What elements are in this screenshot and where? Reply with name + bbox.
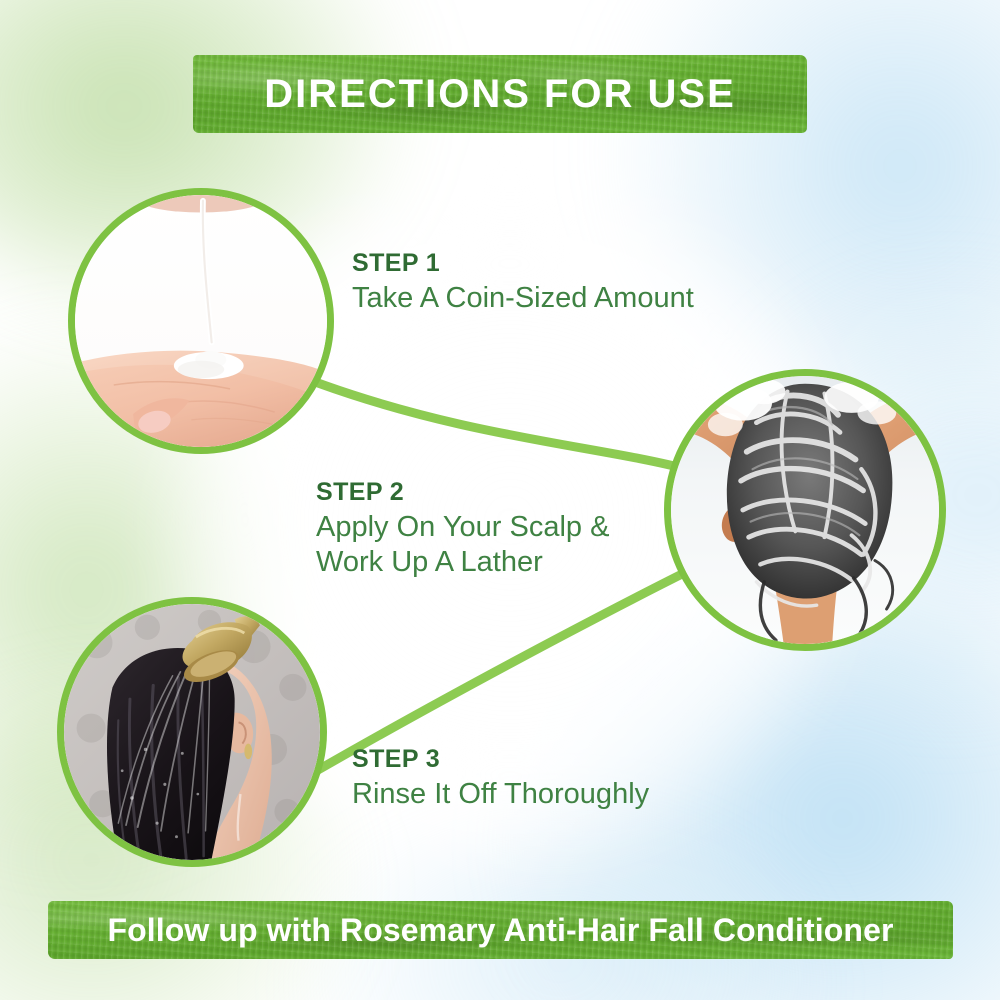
step-3-label: STEP 3 [352,745,649,774]
header-banner: DIRECTIONS FOR USE [193,55,807,133]
step-3-description: Rinse It Off Thoroughly [352,777,649,812]
step-2-image-circle [664,369,946,651]
connector-step2-to-step3 [318,570,690,770]
step-3-photo [64,604,320,860]
step-1-text-block: STEP 1 Take A Coin-Sized Amount [352,249,694,316]
step-2-label: STEP 2 [316,478,609,507]
step-1-photo [75,195,327,447]
step-2-description-line-1: Apply On Your Scalp & [316,510,609,545]
directions-for-use-poster: DIRECTIONS FOR USE [0,0,1000,1000]
step-1-image-circle [68,188,334,454]
connector-step1-to-step2 [318,383,690,470]
step-3-image-circle [57,597,327,867]
footer-banner-text: Follow up with Rosemary Anti-Hair Fall C… [107,912,893,949]
step-2-text-block: STEP 2 Apply On Your Scalp & Work Up A L… [316,478,609,581]
step-1-description: Take A Coin-Sized Amount [352,281,694,316]
step-3-text-block: STEP 3 Rinse It Off Thoroughly [352,745,649,812]
footer-banner: Follow up with Rosemary Anti-Hair Fall C… [48,901,953,959]
step-2-photo [671,376,939,644]
step-2-description-line-2: Work Up A Lather [316,545,609,580]
header-banner-title: DIRECTIONS FOR USE [264,72,736,117]
step-1-label: STEP 1 [352,249,694,278]
